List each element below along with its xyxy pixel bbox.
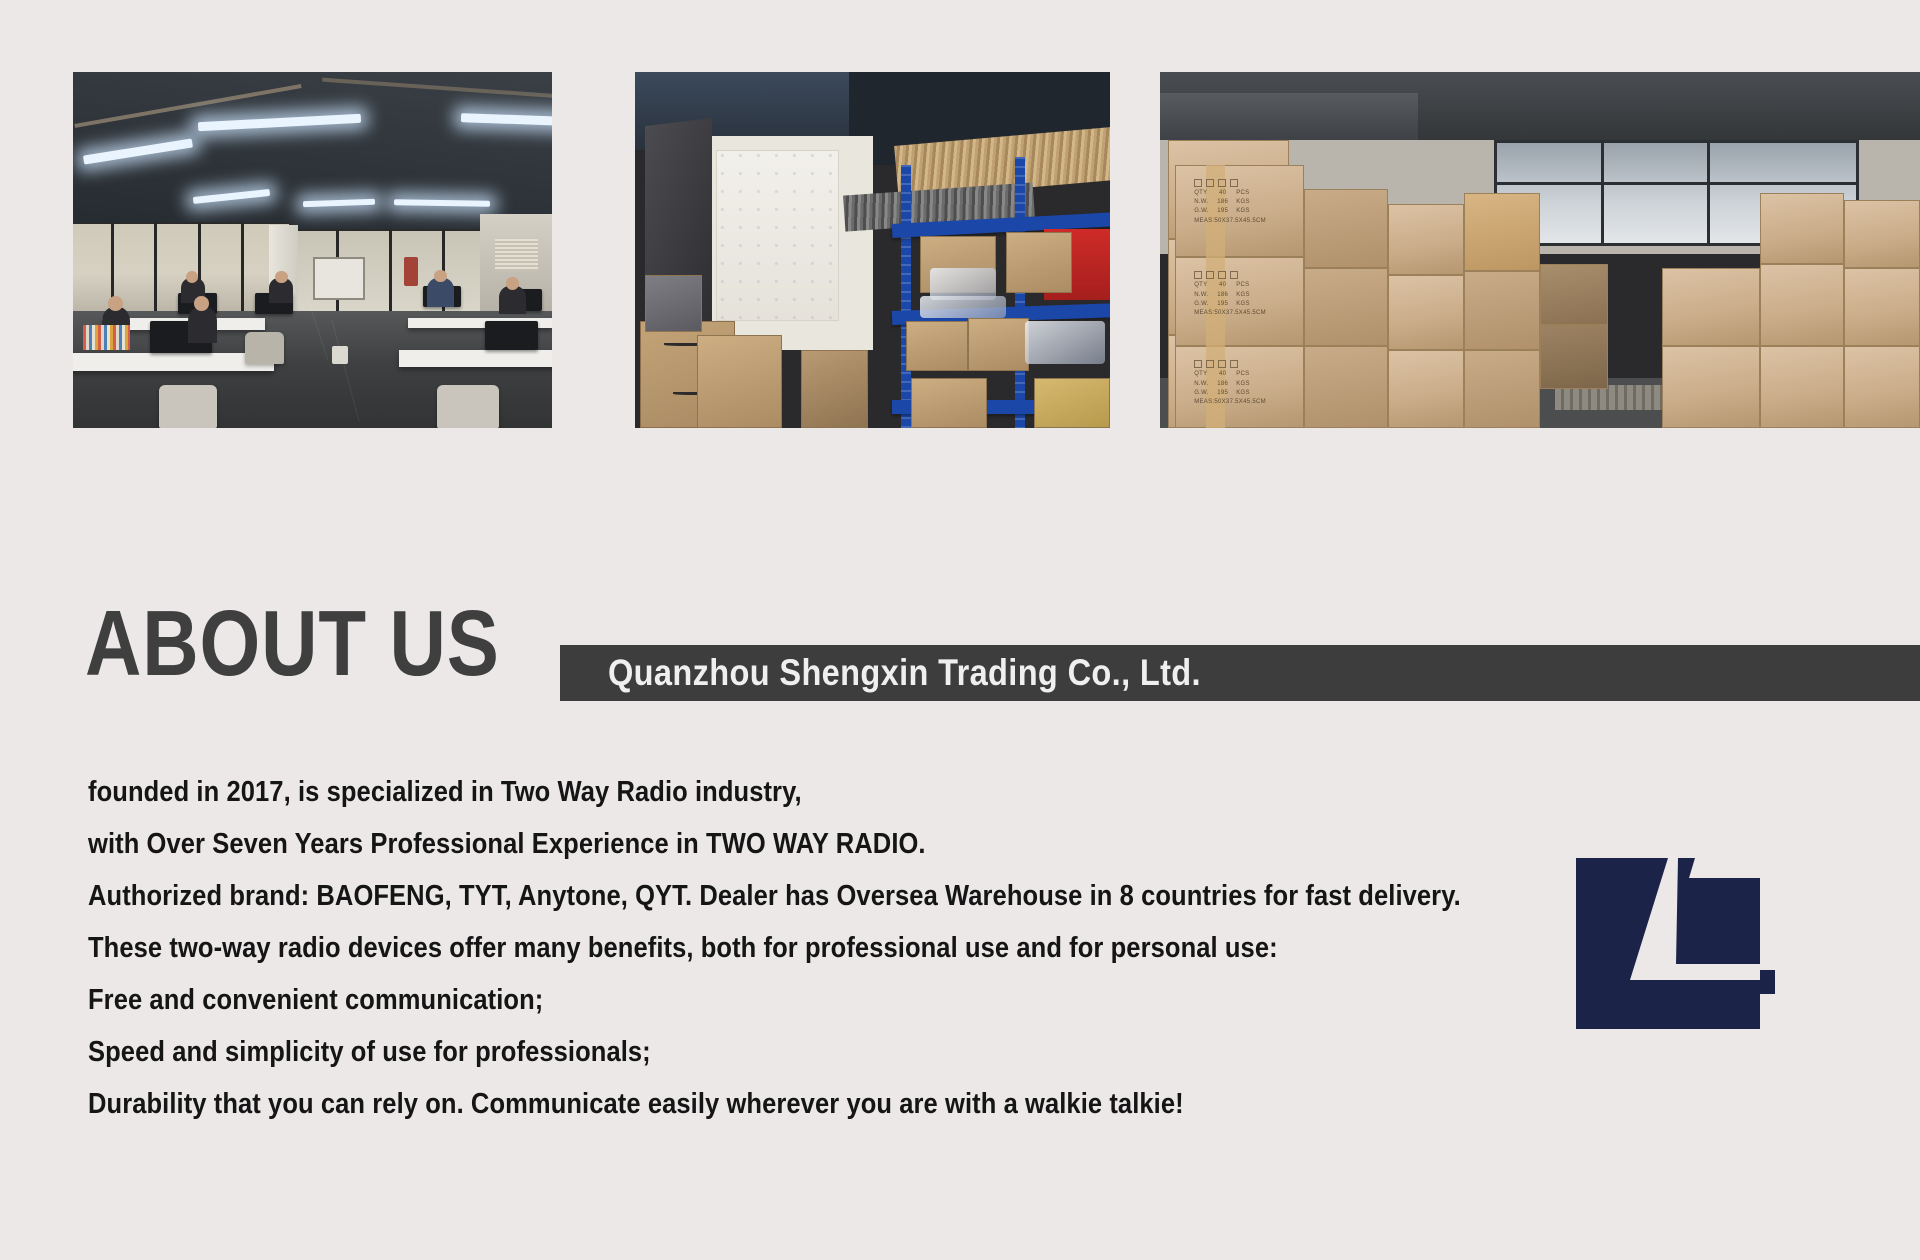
whiteboard (313, 257, 366, 300)
body-line: Durability that you can rely on. Communi… (88, 1078, 1320, 1130)
carton (1540, 325, 1608, 389)
employee-head (506, 277, 519, 290)
office-chair (159, 385, 216, 428)
poly-bagged-stock (1025, 321, 1106, 364)
office-chair (245, 332, 283, 364)
desk (399, 350, 552, 368)
body-line: founded in 2017, is specialized in Two W… (88, 766, 1320, 818)
pallet (1555, 385, 1661, 410)
poly-bagged-stock (920, 296, 1006, 317)
carton-label-measurement: MEAS:50X37.5X45.5CM (1194, 217, 1266, 226)
carton-label-row: QTY40PCS (1194, 189, 1266, 198)
carton (906, 321, 968, 371)
carton (1464, 271, 1540, 349)
employee (188, 307, 217, 343)
window-transom (1494, 182, 1859, 185)
company-name-bar: Quanzhou Shengxin Trading Co., Ltd. (560, 645, 1920, 701)
carton (1844, 268, 1920, 346)
carton (911, 378, 987, 428)
body-line: Speed and simplicity of use for professi… (88, 1026, 1320, 1078)
carton-label-measurement: MEAS:50X37.5X45.5CM (1194, 398, 1266, 407)
carton (1388, 204, 1464, 275)
carton (968, 318, 1030, 371)
carton (1844, 200, 1920, 268)
employee (499, 286, 525, 314)
window-blinds (495, 239, 538, 271)
carton (1304, 268, 1388, 346)
carton (697, 335, 783, 428)
carton (1034, 378, 1110, 428)
carton-label-row: G.W.195KGS (1194, 207, 1266, 216)
body-line: with Over Seven Years Professional Exper… (88, 818, 1320, 870)
window-blind (716, 150, 840, 321)
carton-stack-photo: QTY40PCSN.W.186KGSG.W.195KGSMEAS:50X37.5… (1160, 72, 1920, 428)
window-mullion (154, 222, 157, 315)
office-chair (437, 385, 499, 428)
photo-strip: QTY40PCSN.W.186KGSG.W.195KGSMEAS:50X37.5… (0, 0, 1920, 440)
carton (1760, 193, 1844, 264)
handling-icons (1194, 360, 1266, 368)
carton (1304, 346, 1388, 428)
window-mullion (1707, 140, 1710, 247)
carton (1662, 346, 1761, 428)
window-mullion (241, 222, 244, 315)
carton-label-row: N.W.186KGS (1194, 380, 1266, 389)
carton (1662, 268, 1761, 346)
carton (1006, 232, 1073, 293)
equipment-box (645, 275, 702, 332)
carton-label-row: QTY40PCS (1194, 370, 1266, 379)
carton-label-row: N.W.186KGS (1194, 291, 1266, 300)
wall-decor (404, 257, 418, 285)
carton-label-measurement: MEAS:50X37.5X45.5CM (1194, 309, 1266, 318)
body-line: These two-way radio devices offer many b… (88, 922, 1320, 974)
carton (1464, 350, 1540, 428)
window-mullion (389, 229, 392, 311)
warehouse-shelving-photo (635, 72, 1110, 428)
body-line: Authorized brand: BAOFENG, TYT, Anytone,… (88, 870, 1320, 922)
about-body-copy: founded in 2017, is specialized in Two W… (88, 766, 1488, 1130)
carton-shipping-mark: QTY40PCSN.W.186KGSG.W.195KGSMEAS:50X37.5… (1194, 360, 1266, 407)
body-line: Free and convenient communication; (88, 974, 1320, 1026)
carton-label-row: G.W.195KGS (1194, 300, 1266, 309)
carton (1388, 275, 1464, 350)
carton-label-row: G.W.195KGS (1194, 389, 1266, 398)
company-name: Quanzhou Shengxin Trading Co., Ltd. (608, 645, 1201, 701)
carton (1760, 264, 1844, 346)
window-mullion (1601, 140, 1604, 247)
carton (1464, 193, 1540, 271)
employee-head (275, 271, 287, 283)
employee (427, 278, 453, 306)
stool (332, 346, 349, 364)
handling-icons (1194, 271, 1266, 279)
carton (1540, 264, 1608, 325)
carton (1844, 346, 1920, 428)
carton-shipping-mark: QTY40PCSN.W.186KGSG.W.195KGSMEAS:50X37.5… (1194, 179, 1266, 226)
rack-upright (1015, 157, 1025, 428)
monitor (485, 321, 538, 349)
carton (1760, 346, 1844, 428)
poly-bagged-stock (930, 268, 997, 300)
ceiling-duct (1160, 93, 1418, 139)
carton (1304, 189, 1388, 267)
desk (73, 353, 274, 371)
company-monogram-logo (1572, 822, 1822, 1067)
desk-files (83, 325, 131, 350)
carton-label-row: QTY40PCS (1194, 281, 1266, 290)
carton (801, 350, 868, 428)
about-us-page: QTY40PCSN.W.186KGSG.W.195KGSMEAS:50X37.5… (0, 0, 1920, 1260)
carton-shipping-mark: QTY40PCSN.W.186KGSG.W.195KGSMEAS:50X37.5… (1194, 271, 1266, 318)
heading-row: ABOUT US Quanzhou Shengxin Trading Co., … (0, 588, 1920, 708)
page-title: ABOUT US (85, 588, 500, 698)
carton (1388, 350, 1464, 428)
handling-icons (1194, 179, 1266, 187)
office-interior-photo (73, 72, 552, 428)
carton-label-row: N.W.186KGS (1194, 198, 1266, 207)
